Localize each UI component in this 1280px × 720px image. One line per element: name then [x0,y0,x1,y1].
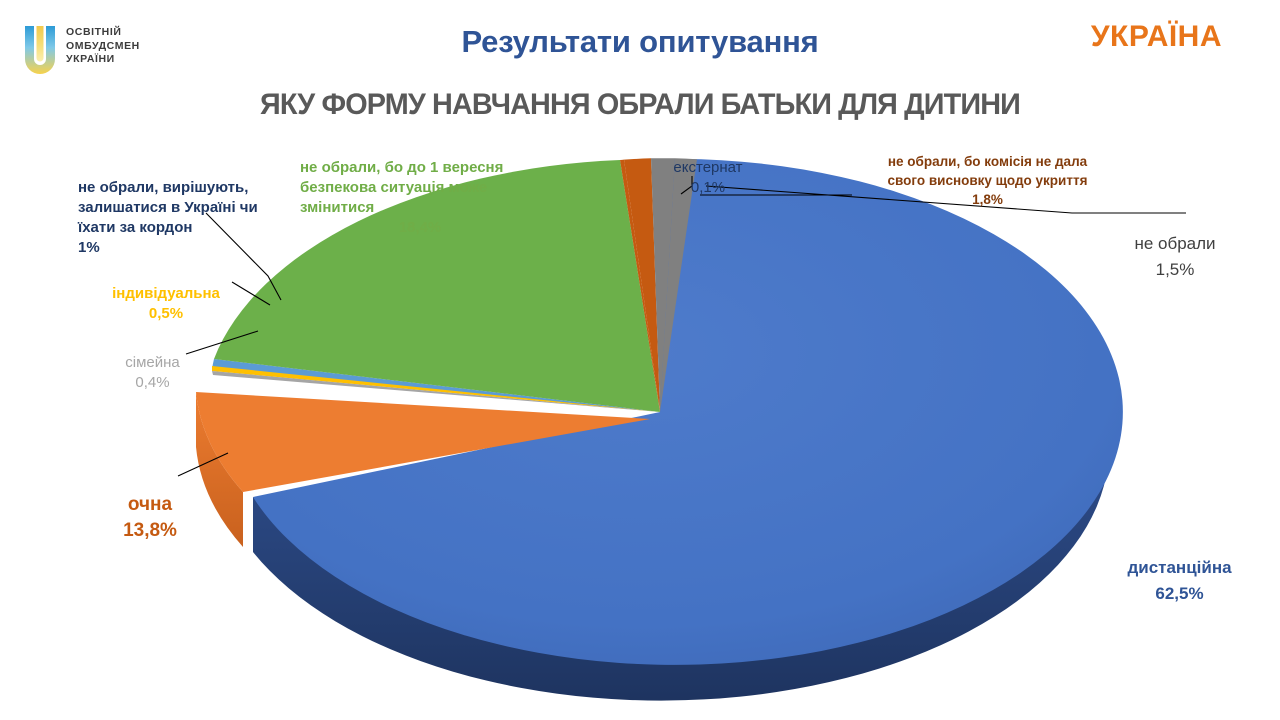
callout-fulltime-text: очна [128,494,172,515]
callout-distance: дистанційна 62,5% [1082,529,1277,633]
callout-distance-pct: 62,5% [1082,581,1277,607]
callout-individual-pct: 0,5% [76,304,256,324]
callout-family-pct: 0,4% [80,373,225,393]
callout-abroad: не обрали, вирішують, залишатися в Украї… [78,158,293,278]
callout-individual-text: індивідуальна [112,285,220,302]
callout-family: сімейна 0,4% [80,333,225,413]
callout-individual: індивідуальна 0,5% [76,264,256,344]
callout-fulltime: очна 13,8% [90,466,210,570]
callout-fulltime-pct: 13,8% [90,518,210,544]
callout-distance-text: дистанційна [1127,558,1231,577]
callout-externat: екстернат 0,1% [628,138,788,218]
pie-chart: не обрали, вирішують, залишатися в Украї… [0,0,1280,720]
callout-notchosen-pct: 1,5% [1080,257,1270,283]
callout-safety-text: не обрали, бо до 1 вересня безпекова сит… [300,159,503,216]
callout-abroad-pct: 1% [78,238,293,258]
callout-notchosen: не обрали 1,5% [1080,205,1270,309]
callout-safety-pct: 18,4% [300,218,540,238]
callout-shelter-text: не обрали, бо комісія не дала свого висн… [888,154,1088,188]
callout-abroad-text: не обрали, вирішують, залишатися в Украї… [78,179,258,236]
callout-family-text: сімейна [125,354,180,371]
slide-canvas: ОСВІТНІЙОМБУДСМЕНУКРАЇНИ Результати опит… [0,0,1280,720]
callout-safety: не обрали, бо до 1 вересня безпекова сит… [300,138,540,258]
callout-externat-pct: 0,1% [628,178,788,198]
callout-notchosen-text: не обрали [1134,234,1215,253]
callout-externat-text: екстернат [673,159,742,176]
